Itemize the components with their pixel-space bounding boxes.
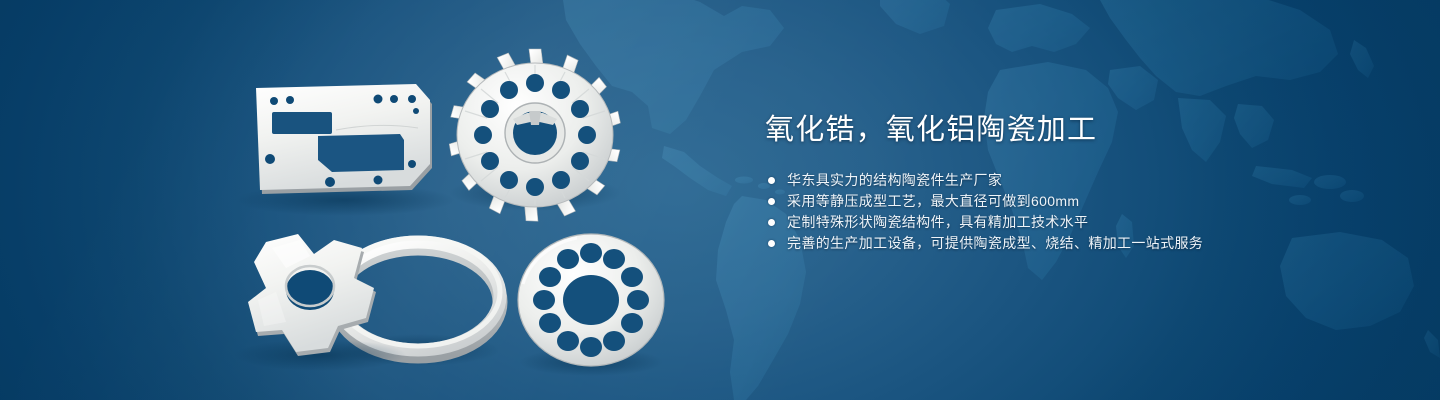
list-item: 定制特殊形状陶瓷结构件，具有精加工技术水平 (765, 215, 1385, 230)
banner-copy: 氧化锆，氧化铝陶瓷加工 华东具实力的结构陶瓷件生产厂家 采用等静压成型工艺，最大… (765, 110, 1385, 251)
promo-banner: 氧化锆，氧化铝陶瓷加工 华东具实力的结构陶瓷件生产厂家 采用等静压成型工艺，最大… (0, 0, 1440, 400)
list-item: 完善的生产加工设备，可提供陶瓷成型、烧结、精加工一站式服务 (765, 236, 1385, 251)
bullet-dot-icon (768, 198, 775, 205)
list-item: 华东具实力的结构陶瓷件生产厂家 (765, 173, 1385, 188)
bullet-dot-icon (768, 177, 775, 184)
bullet-dot-icon (768, 240, 775, 247)
list-item-label: 定制特殊形状陶瓷结构件，具有精加工技术水平 (787, 214, 1088, 230)
feature-list: 华东具实力的结构陶瓷件生产厂家 采用等静压成型工艺，最大直径可做到600mm 定… (765, 173, 1385, 251)
bullet-dot-icon (768, 219, 775, 226)
ceramic-plate-part (235, 84, 455, 216)
list-item-label: 华东具实力的结构陶瓷件生产厂家 (787, 172, 1002, 188)
list-item: 采用等静压成型工艺，最大直径可做到600mm (765, 194, 1385, 209)
ceramic-holed-disc-part (518, 234, 664, 376)
list-item-label: 完善的生产加工设备，可提供陶瓷成型、烧结、精加工一站式服务 (787, 235, 1203, 251)
ceramic-parts-photo (0, 0, 760, 400)
list-item-label: 采用等静压成型工艺，最大直径可做到600mm (787, 193, 1079, 209)
page-title: 氧化锆，氧化铝陶瓷加工 (765, 110, 1385, 150)
ceramic-impeller-part (449, 49, 622, 221)
